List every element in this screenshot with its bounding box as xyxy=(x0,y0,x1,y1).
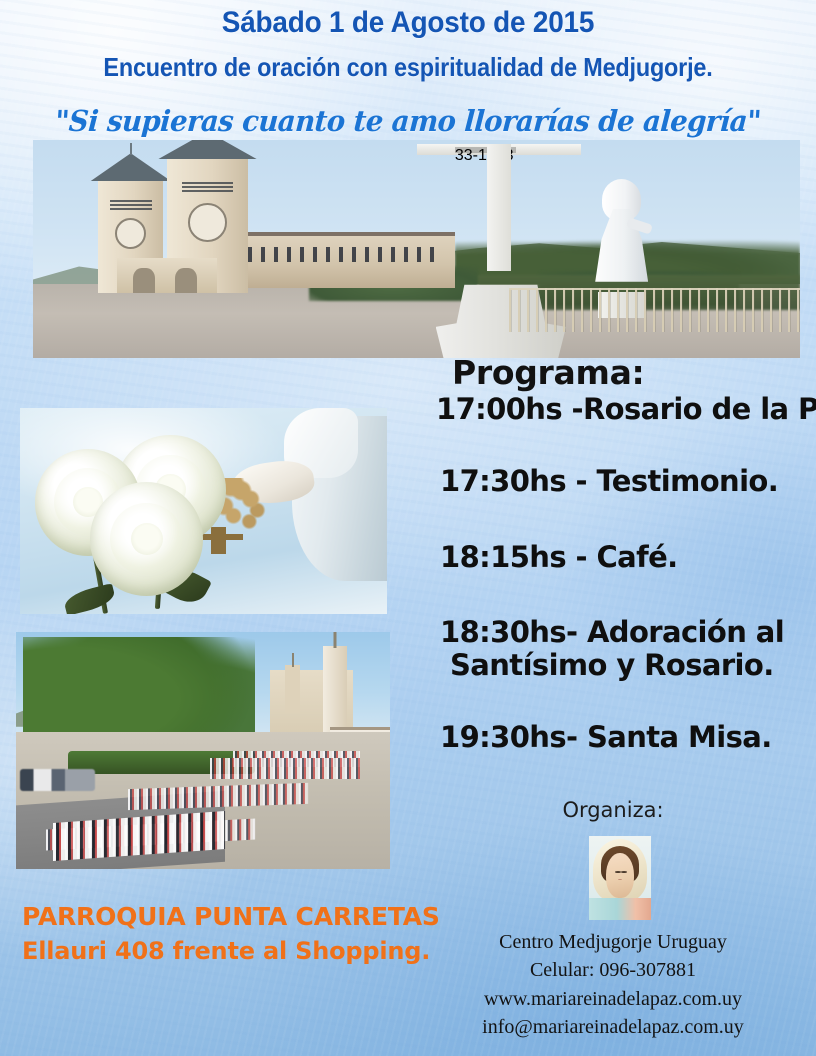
parish-name: PARROQUIA PUNTA CARRETAS xyxy=(22,902,452,931)
medjugorje-church-and-apparition-hill-photo: 33-1933 xyxy=(33,140,800,358)
virgin-mary-statue xyxy=(593,179,651,301)
tower-louvre xyxy=(110,200,152,210)
mary-mouth xyxy=(618,879,622,880)
event-quote: "Si supieras cuanto te amo llorarías de … xyxy=(19,104,796,138)
religious-procession-at-st-james-church-photo xyxy=(16,632,390,869)
white-rose-bloom xyxy=(90,482,204,596)
church-bell-tower-secondary xyxy=(285,665,300,712)
rosary-crucifix xyxy=(211,527,226,554)
event-subtitle: Encuentro de oración con espiritualidad … xyxy=(41,52,775,83)
white-roses-with-statue-hand-holding-rosary-photo xyxy=(20,408,387,614)
parked-cars xyxy=(20,769,95,790)
tower-louvre xyxy=(182,182,234,194)
program-item: 18:15hs - Café. xyxy=(410,541,816,573)
program-item: 19:30hs- Santa Misa. xyxy=(410,721,816,753)
mary-face xyxy=(606,853,635,898)
program-section: Programa: 17:00hs -Rosario de la Paz 17:… xyxy=(410,356,816,753)
parish-address: Ellauri 408 frente al Shopping. xyxy=(22,937,452,965)
contact-organization: Centro Medjugorje Uruguay xyxy=(410,928,816,956)
poster-header: Sábado 1 de Agosto de 2015 Encuentro de … xyxy=(0,6,816,83)
program-item: 17:30hs - Testimonio. xyxy=(410,465,816,497)
iron-fence xyxy=(509,288,800,332)
contact-phone: Celular: 096-307881 xyxy=(410,956,816,984)
mary-shoulder-drape xyxy=(589,898,651,920)
program-title: Programa: xyxy=(410,356,816,391)
mary-eye xyxy=(621,871,627,873)
church-entrance-porch xyxy=(117,258,217,293)
statue-robe xyxy=(595,209,648,282)
contact-email[interactable]: info@mariareinadelapaz.com.uy xyxy=(410,1013,816,1041)
crowd-row xyxy=(210,758,360,779)
contact-website[interactable]: www.mariareinadelapaz.com.uy xyxy=(410,985,816,1013)
program-item: 18:30hs- Adoración al Santísimo y Rosari… xyxy=(410,616,816,681)
virgin-mary-portrait-icon xyxy=(589,836,651,920)
parish-section: PARROQUIA PUNTA CARRETAS Ellauri 408 fre… xyxy=(22,902,452,965)
organiza-label: Organiza: xyxy=(410,798,816,822)
program-item-line2: Santísimo y Rosario. xyxy=(440,649,816,681)
tower-clock-face xyxy=(188,203,227,242)
program-item-line1: 18:30hs- Adoración al xyxy=(440,615,784,649)
tower-finial xyxy=(130,143,132,155)
program-item: 17:00hs -Rosario de la Paz xyxy=(410,393,816,425)
tower-clock-face xyxy=(115,218,146,249)
event-date: Sábado 1 de Agosto de 2015 xyxy=(29,6,788,40)
cross-vertical-shaft xyxy=(487,144,511,270)
contact-section: Centro Medjugorje Uruguay Celular: 096-3… xyxy=(410,928,816,1042)
